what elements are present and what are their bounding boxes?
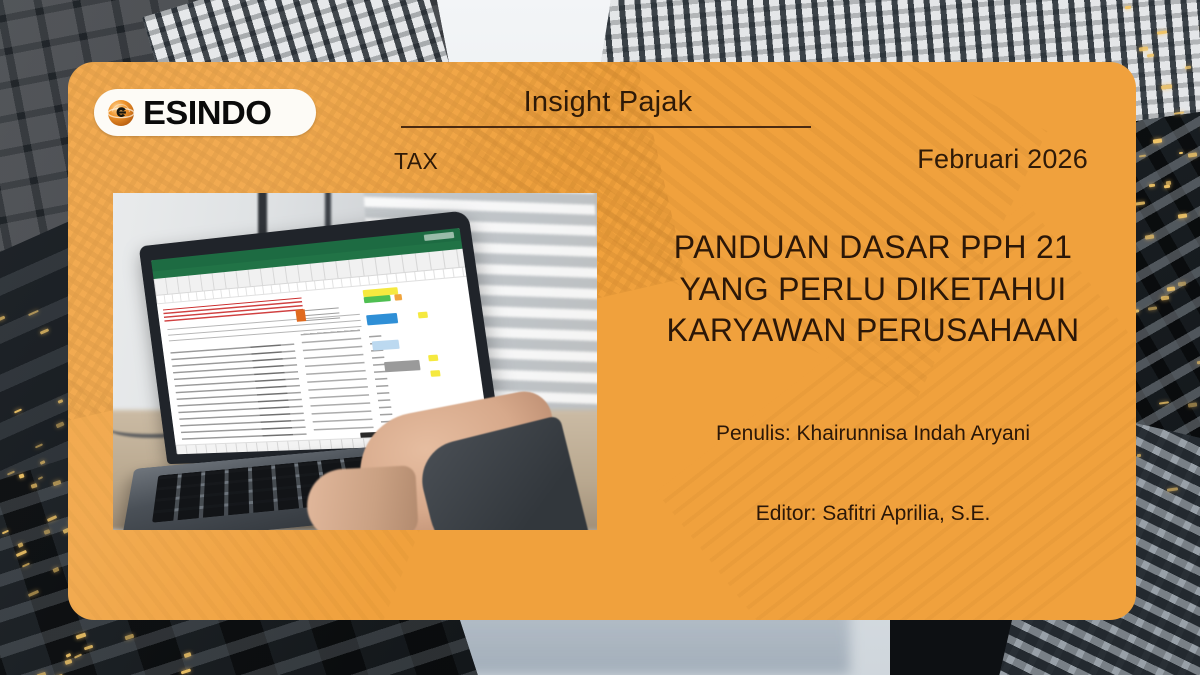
worksheet-rows-c [300, 327, 373, 430]
user-fingers [305, 465, 419, 530]
worksheet-chip-blue-2 [372, 340, 400, 351]
laptop [128, 220, 538, 530]
article-editor: Editor: Safitri Aprilia, S.E. [628, 502, 1118, 526]
header-divider [401, 126, 811, 128]
worksheet-chip-green-1 [364, 295, 391, 303]
article-title-line-3: KARYAWAN PERUSAHAAN [628, 310, 1118, 352]
article-author: Penulis: Khairunnisa Indah Aryani [628, 422, 1118, 446]
worksheet-chip-yellow-2 [418, 312, 428, 319]
content-card: ESINDO Insight Pajak TAX Februari 2026 [68, 62, 1136, 620]
laptop-spreadsheet-photo [113, 193, 597, 530]
worksheet-chip-yellow-3 [428, 355, 438, 362]
worksheet-chip-orange-1 [394, 294, 402, 301]
issue-date: Februari 2026 [917, 144, 1088, 175]
category-label: TAX [394, 148, 438, 175]
article-title: PANDUAN DASAR PPH 21 YANG PERLU DIKETAHU… [628, 227, 1118, 352]
brand-logo-text: ESINDO [143, 96, 271, 129]
worksheet-chip-yellow-4 [430, 370, 440, 377]
article-title-line-1: PANDUAN DASAR PPH 21 [628, 227, 1118, 269]
worksheet-chip-blue-1 [366, 313, 398, 326]
worksheet-chip-grey-1 [384, 360, 421, 372]
e-globe-icon [106, 98, 136, 128]
publication-title: Insight Pajak [398, 86, 818, 119]
article-title-line-2: YANG PERLU DIKETAHUI [628, 269, 1118, 311]
brand-logo[interactable]: ESINDO [94, 89, 316, 136]
